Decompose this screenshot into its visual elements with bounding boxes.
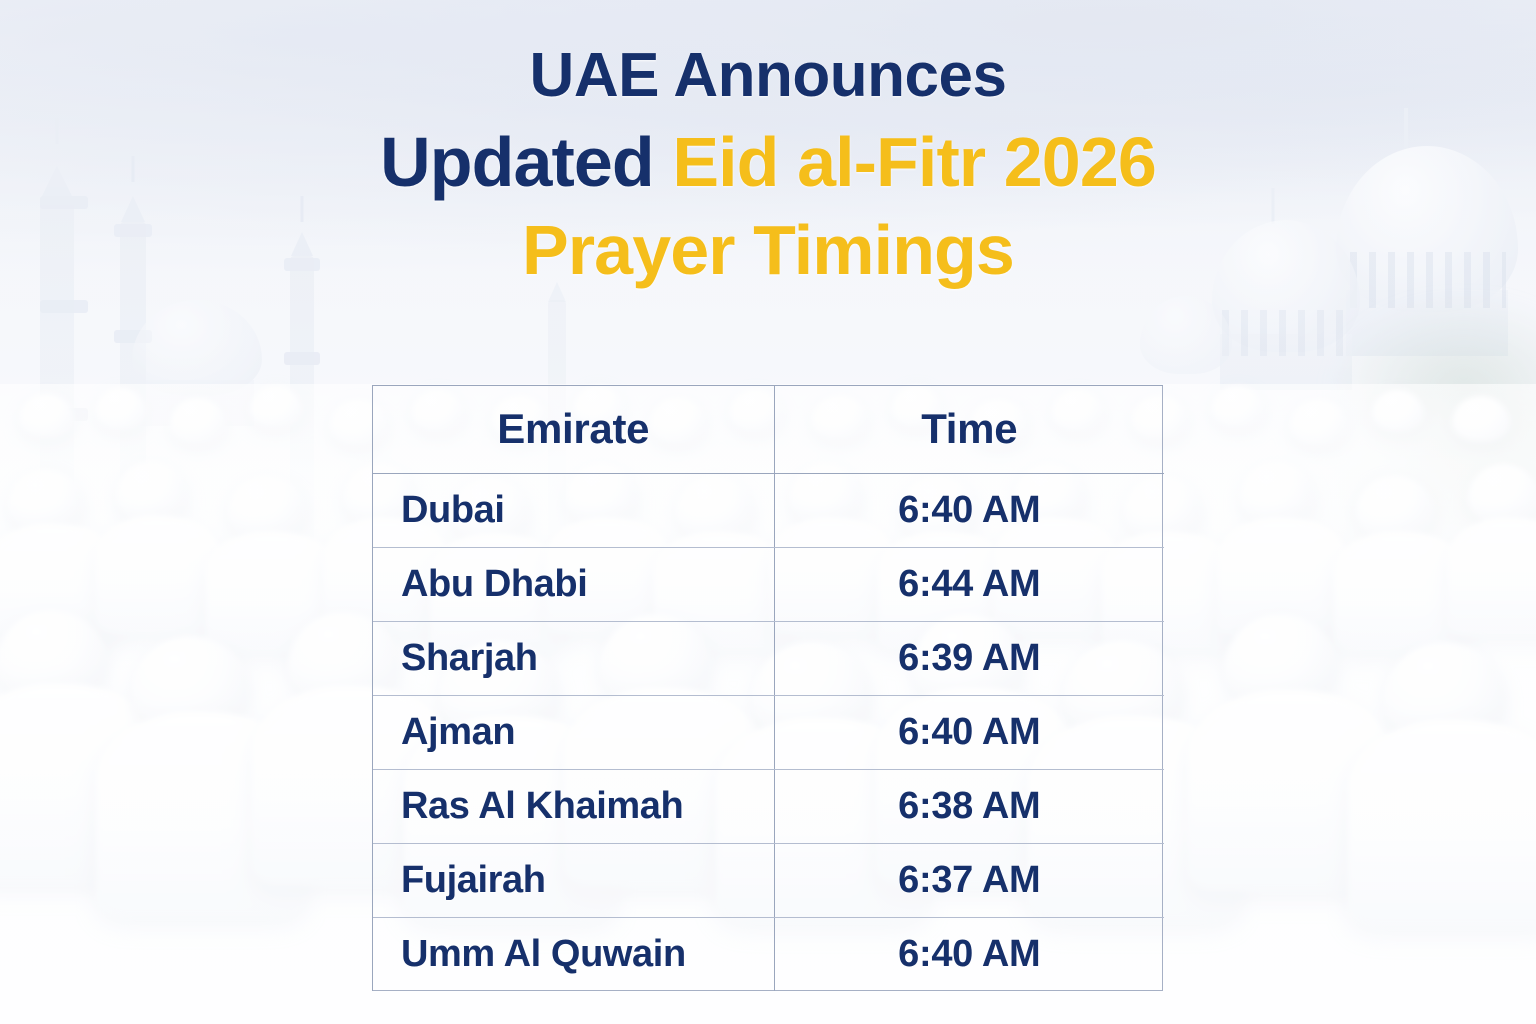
cell-emirate: Fujairah <box>373 843 774 917</box>
headline-line-2: Updated Eid al-Fitr 2026 <box>0 127 1536 198</box>
cell-time: 6:40 AM <box>774 473 1164 547</box>
infographic-canvas: UAE Announces Updated Eid al-Fitr 2026 P… <box>0 0 1536 1024</box>
table-row: Sharjah 6:39 AM <box>373 621 1164 695</box>
cell-emirate: Ras Al Khaimah <box>373 769 774 843</box>
table-row: Ajman 6:40 AM <box>373 695 1164 769</box>
table-row: Dubai 6:40 AM <box>373 473 1164 547</box>
table-body: Dubai 6:40 AM Abu Dhabi 6:44 AM Sharjah … <box>373 473 1164 991</box>
prayer-timings-table: Emirate Time Dubai 6:40 AM Abu Dhabi 6:4… <box>373 386 1164 991</box>
column-header-time: Time <box>774 386 1164 473</box>
cell-emirate: Abu Dhabi <box>373 547 774 621</box>
cell-emirate: Sharjah <box>373 621 774 695</box>
cell-time: 6:40 AM <box>774 695 1164 769</box>
cell-time: 6:38 AM <box>774 769 1164 843</box>
prayer-timings-table-wrapper: Emirate Time Dubai 6:40 AM Abu Dhabi 6:4… <box>372 385 1163 991</box>
table-header-row: Emirate Time <box>373 386 1164 473</box>
headline-line-2-highlight: Eid al-Fitr 2026 <box>672 123 1156 201</box>
headline: UAE Announces Updated Eid al-Fitr 2026 P… <box>0 44 1536 286</box>
cell-time: 6:37 AM <box>774 843 1164 917</box>
table-row: Abu Dhabi 6:44 AM <box>373 547 1164 621</box>
headline-line-1: UAE Announces <box>0 44 1536 107</box>
table-header: Emirate Time <box>373 386 1164 473</box>
cell-time: 6:40 AM <box>774 917 1164 991</box>
column-header-emirate: Emirate <box>373 386 774 473</box>
cell-emirate: Dubai <box>373 473 774 547</box>
cell-emirate: Umm Al Quwain <box>373 917 774 991</box>
table-row: Fujairah 6:37 AM <box>373 843 1164 917</box>
cell-emirate: Ajman <box>373 695 774 769</box>
cell-time: 6:39 AM <box>774 621 1164 695</box>
table-row: Ras Al Khaimah 6:38 AM <box>373 769 1164 843</box>
headline-line-3: Prayer Timings <box>0 215 1536 286</box>
table-row: Umm Al Quwain 6:40 AM <box>373 917 1164 991</box>
headline-line-2-prefix: Updated <box>380 123 672 201</box>
cell-time: 6:44 AM <box>774 547 1164 621</box>
